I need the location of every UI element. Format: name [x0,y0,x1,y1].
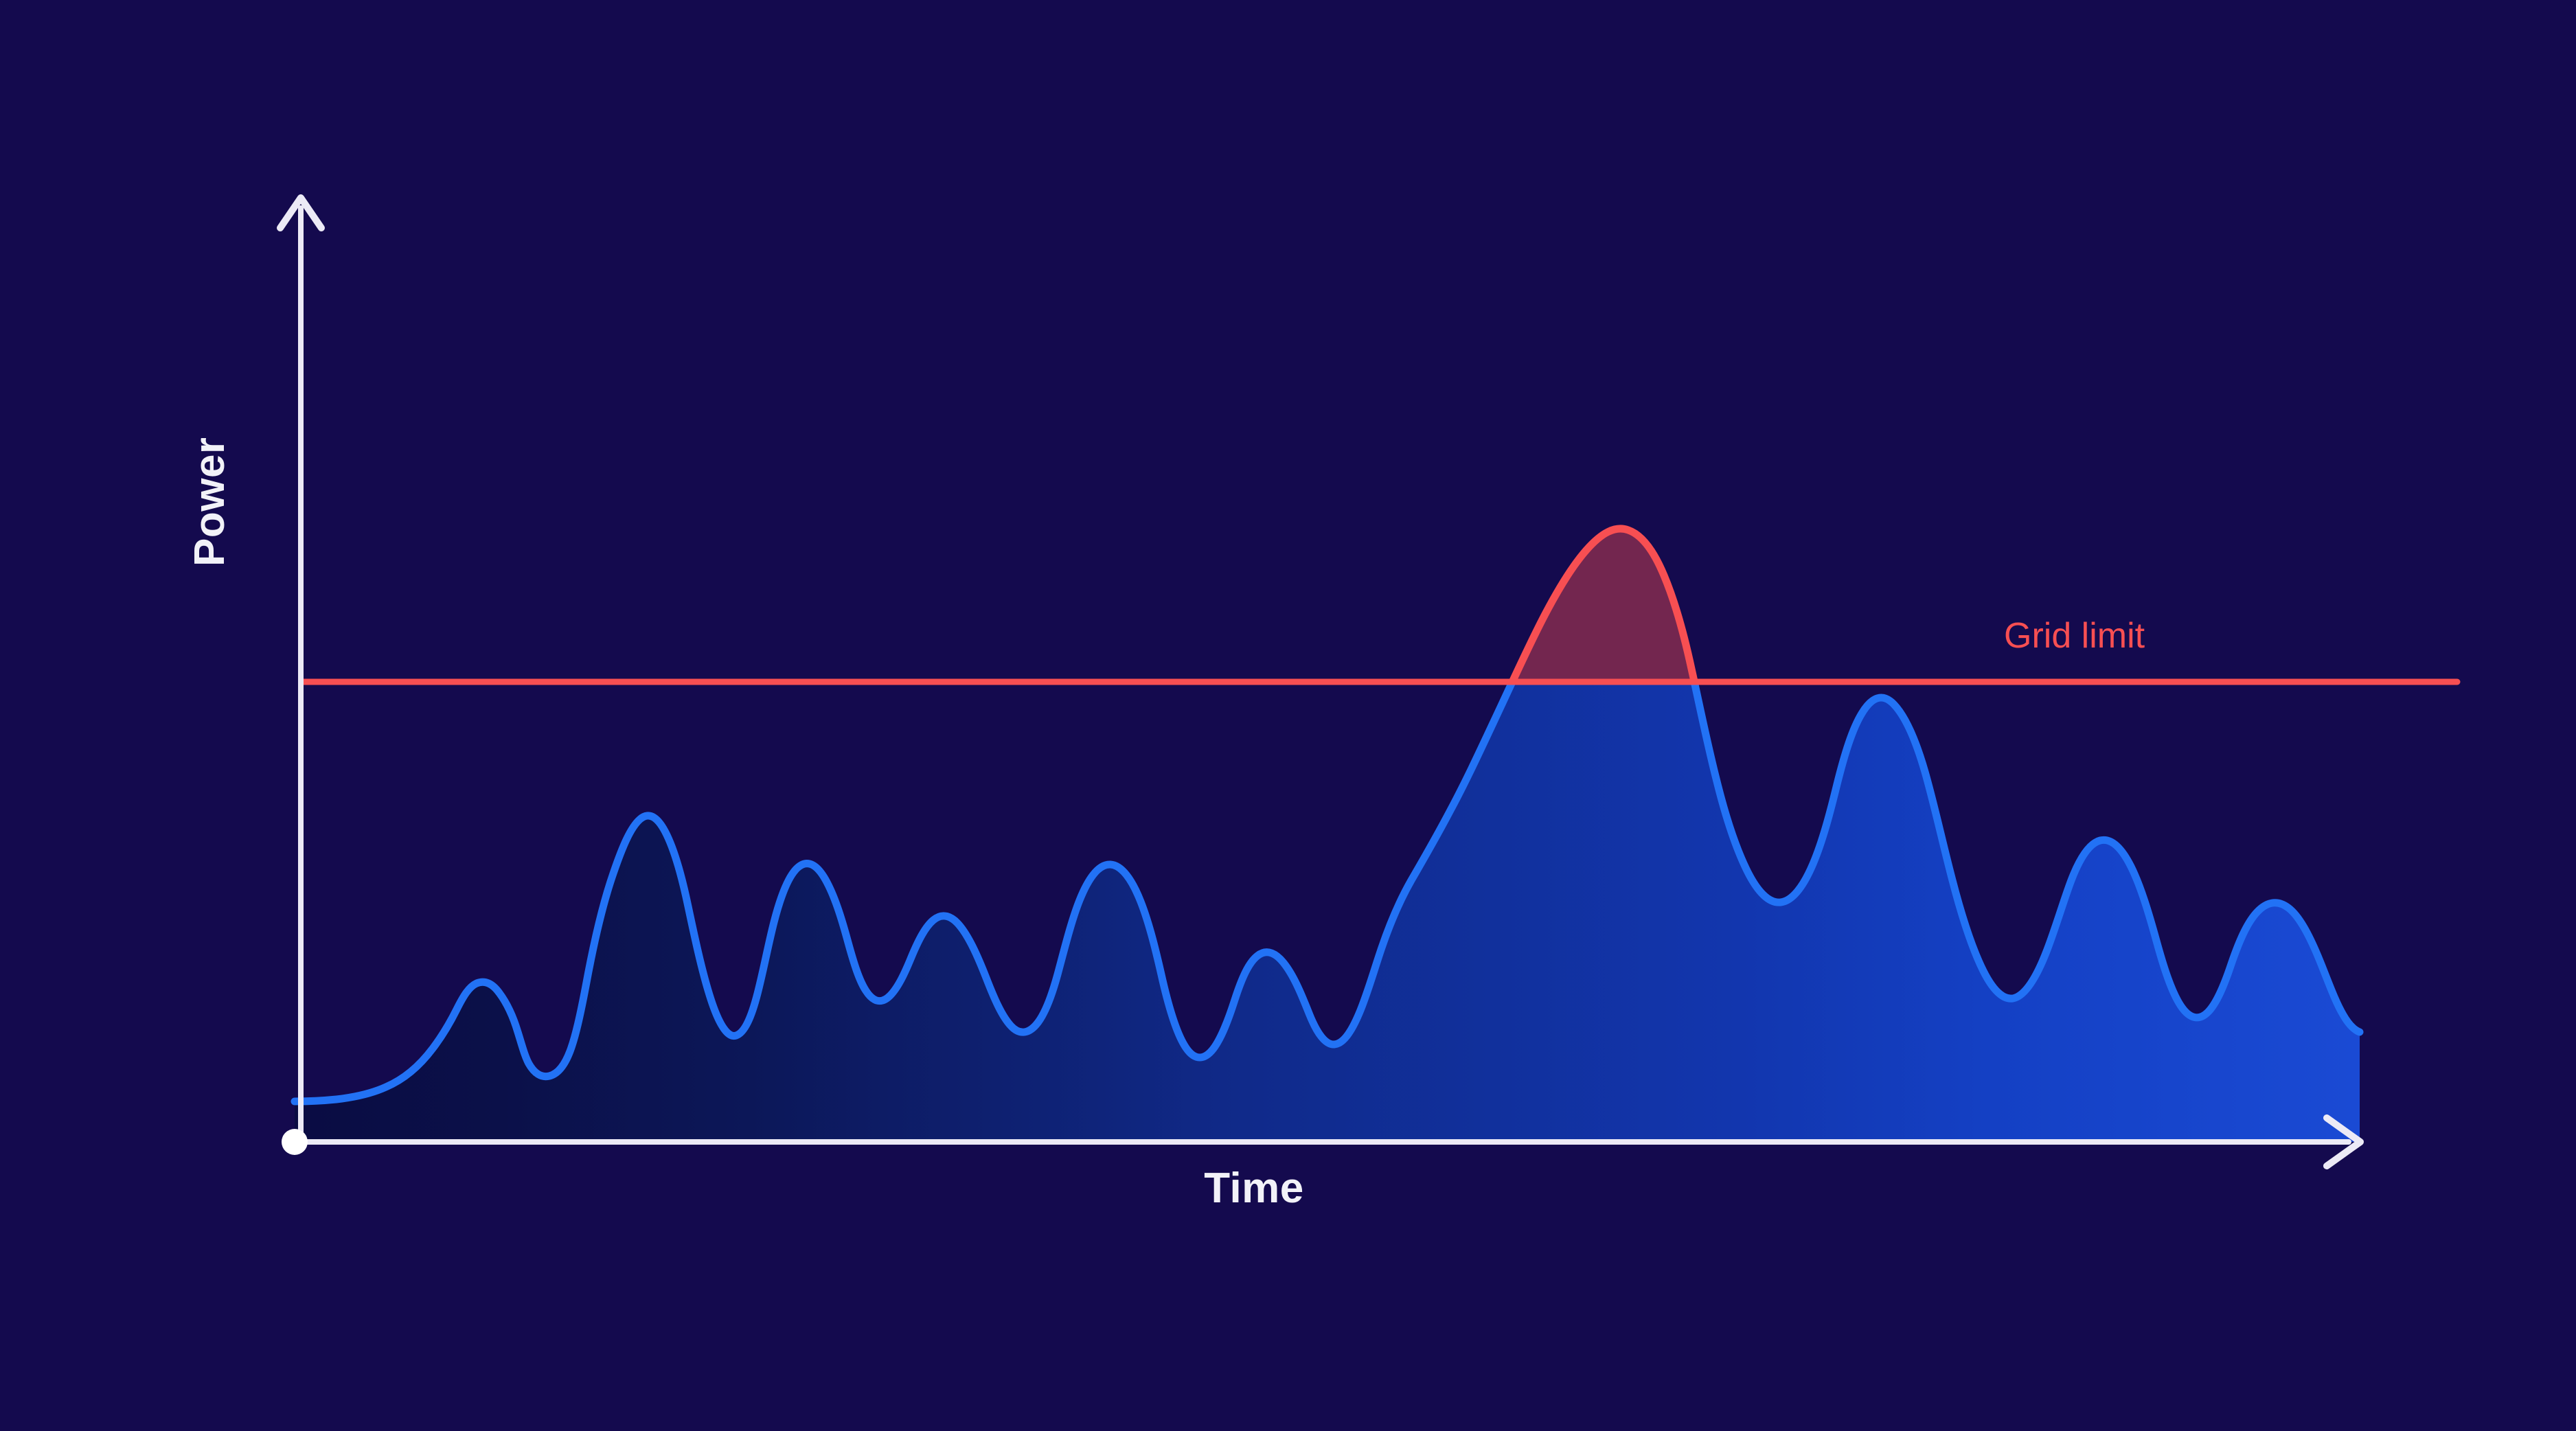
grid-limit-label: Grid limit [2004,618,2145,654]
x-axis-label: Time [1204,1167,1304,1210]
origin-dot [282,1129,308,1155]
chart-page: Power Time Grid limit [0,0,2576,1431]
y-axis-label: Power [189,437,231,566]
power-over-time-chart [0,0,2576,1431]
y-axis [280,198,321,1142]
